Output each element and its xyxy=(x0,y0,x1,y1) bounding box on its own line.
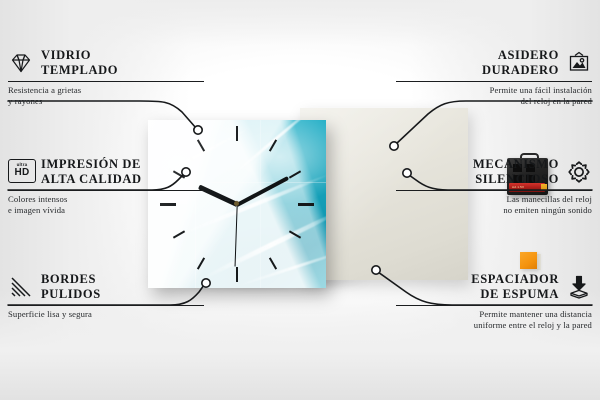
feature-title: MECANISMO SILENCIOSO xyxy=(473,157,559,187)
feature-description: Resistencia a grietas y rayones xyxy=(8,85,204,109)
feature-asidero-duradero: ASIDERO DURADERO Permite una fácil insta… xyxy=(396,48,592,108)
feature-description: Superficie lisa y segura xyxy=(8,309,204,321)
feature-header: BORDES PULIDOS xyxy=(8,272,204,302)
feature-title: IMPRESIÓN DE ALTA CALIDAD xyxy=(41,157,142,187)
feature-title: VIDRIO TEMPLADO xyxy=(41,48,118,78)
feature-description: Permite mantener una distancia uniforme … xyxy=(396,309,592,333)
ultra-hd-icon: ultra HD xyxy=(8,159,34,185)
feature-title: ESPACIADOR DE ESPUMA xyxy=(471,272,559,302)
product-infographic: AA 1.5V xyxy=(0,0,600,400)
tick-12 xyxy=(236,126,238,141)
diamond-icon xyxy=(8,50,34,76)
picture-frame-hanger-icon xyxy=(566,50,592,76)
feature-description: Las manecillas del reloj no emiten ningú… xyxy=(396,194,592,218)
feature-description: Colores intensos e imagen vívida xyxy=(8,194,204,218)
gear-icon xyxy=(566,159,592,185)
feature-header: ESPACIADOR DE ESPUMA xyxy=(396,272,592,302)
diagonal-stripes-icon xyxy=(8,274,34,300)
feature-divider xyxy=(8,305,204,306)
feature-header: VIDRIO TEMPLADO xyxy=(8,48,204,78)
feature-header: ASIDERO DURADERO xyxy=(396,48,592,78)
feature-espaciador-de-espuma: ESPACIADOR DE ESPUMA Permite mantener un… xyxy=(396,272,592,332)
feature-divider xyxy=(396,81,592,82)
feature-header: ultra HD IMPRESIÓN DE ALTA CALIDAD xyxy=(8,157,204,187)
tick-6 xyxy=(236,267,238,282)
feature-bordes-pulidos: BORDES PULIDOS Superficie lisa y segura xyxy=(8,272,204,320)
feature-title: BORDES PULIDOS xyxy=(41,272,101,302)
feature-header: MECANISMO SILENCIOSO xyxy=(396,157,592,187)
glass-seam-vertical-2 xyxy=(260,120,261,288)
feature-title: ASIDERO DURADERO xyxy=(482,48,559,78)
feature-impresion-alta-calidad: ultra HD IMPRESIÓN DE ALTA CALIDAD Color… xyxy=(8,157,204,217)
tick-3 xyxy=(298,203,314,206)
arrow-down-pad-icon xyxy=(566,274,592,300)
feature-divider xyxy=(8,190,204,191)
feature-divider xyxy=(8,81,204,82)
feature-mecanismo-silencioso: MECANISMO SILENCIOSO Las manecillas del … xyxy=(396,157,592,217)
clock-center-hub xyxy=(234,201,239,206)
feature-vidrio-templado: VIDRIO TEMPLADO Resistencia a grietas y … xyxy=(8,48,204,108)
feature-divider xyxy=(396,190,592,191)
foam-spacer xyxy=(520,252,537,269)
feature-divider xyxy=(396,305,592,306)
feature-description: Permite una fácil instalación del reloj … xyxy=(396,85,592,109)
